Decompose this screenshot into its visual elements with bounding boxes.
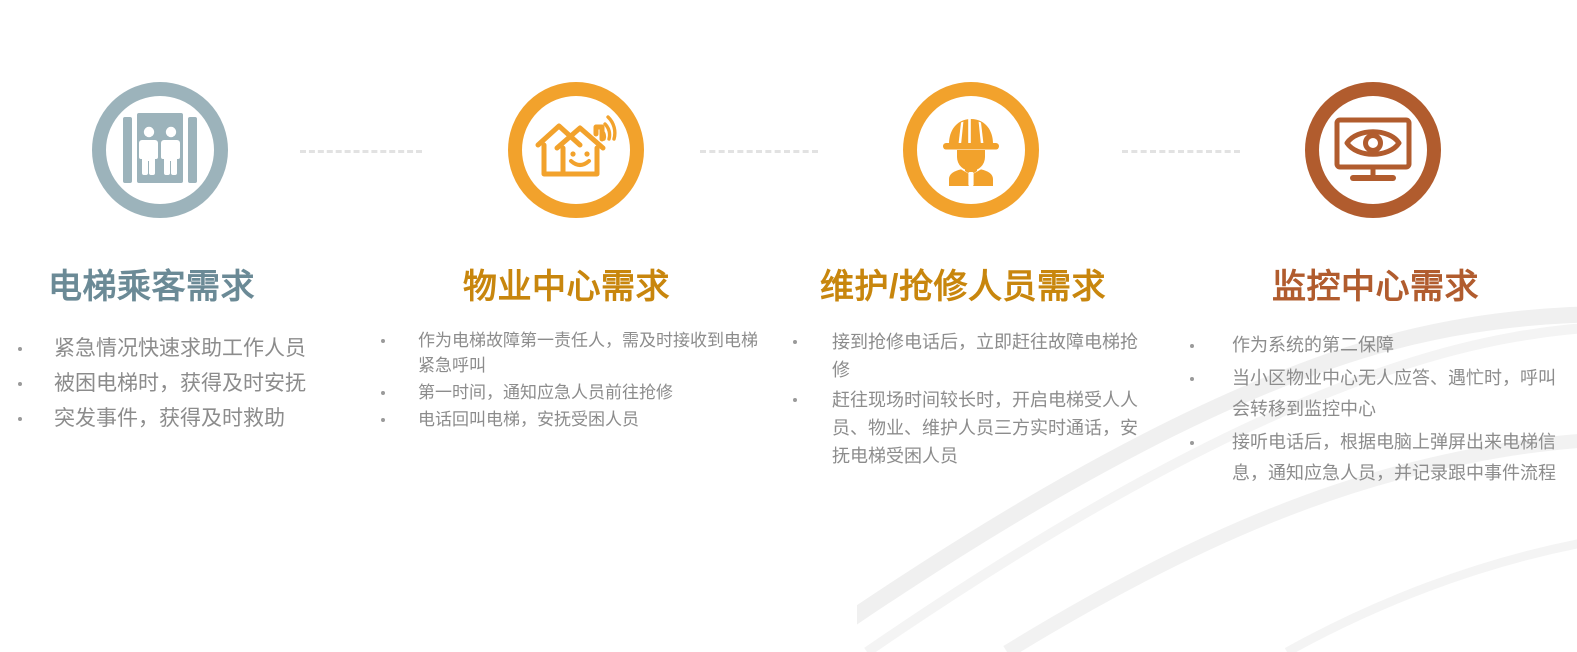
list-item-text: 接到抢修电话后，立即赶往故障电梯抢修 [832,328,1153,384]
bullet-dot [793,398,797,402]
list-item: 当小区物业中心无人应答、遇忙时，呼叫会转移到监控中心 [1190,363,1570,425]
list-item: 接听电话后，根据电脑上弹屏出来电梯信息，通知应急人员，并记录跟中事件流程 [1190,427,1570,489]
list-item-text: 电话回叫电梯，安抚受困人员 [418,407,761,432]
bullet-dot [381,391,385,395]
list-item: 接到抢修电话后，立即赶往故障电梯抢修 [793,328,1153,384]
bullet-dot [793,340,797,344]
bullet-dot [1190,441,1194,445]
bullet-dot [1190,344,1194,348]
column-title-maintenance-repair: 维护/抢修人员需求 [820,270,1106,304]
monitor-eye-icon [1333,117,1413,183]
infographic-slide: 电梯乘客需求 紧急情况快速求助工作人员 被困电梯时，获得及时安抚 突发事件，获得… [0,0,1577,592]
worker-helmet-icon [935,114,1007,186]
bullet-dot [381,339,385,343]
list-item-text: 作为系统的第二保障 [1232,330,1570,361]
icon-ring-elevator [92,82,228,218]
column-title-elevator-passenger: 电梯乘客需求 [48,270,255,304]
connector-1-2 [300,150,422,153]
list-item: 被困电梯时，获得及时安抚 [18,367,348,400]
list-item: 赶往现场时间较长时，开启电梯受人人员、物业、维护人员三方实时通话，安抚电梯受困人… [793,386,1153,470]
columns-container: 电梯乘客需求 紧急情况快速求助工作人员 被困电梯时，获得及时安抚 突发事件，获得… [0,0,1577,592]
list-item: 第一时间，通知应急人员前往抢修 [381,380,761,405]
connector-3-4 [1122,150,1240,153]
list-item: 电话回叫电梯，安抚受困人员 [381,407,761,432]
bullet-dot [18,382,22,386]
connector-2-3 [700,150,818,153]
list-item: 紧急情况快速求助工作人员 [18,332,348,365]
bullet-dot [18,347,22,351]
list-item-text: 突发事件，获得及时救助 [54,402,348,435]
bullet-dot [1190,377,1194,381]
list-item: 作为电梯故障第一责任人，需及时接收到电梯紧急呼叫 [381,328,761,378]
list-item: 突发事件，获得及时救助 [18,402,348,435]
list-item-text: 赶往现场时间较长时，开启电梯受人人员、物业、维护人员三方实时通话，安抚电梯受困人… [832,386,1153,470]
list-item: 作为系统的第二保障 [1190,330,1570,361]
elevator-icon [123,111,197,189]
bullet-dot [381,418,385,422]
list-item-text: 被困电梯时，获得及时安抚 [54,367,348,400]
bullet-list-elevator-passenger: 紧急情况快速求助工作人员 被困电梯时，获得及时安抚 突发事件，获得及时救助 [18,332,348,437]
bullet-list-monitoring-center: 作为系统的第二保障 当小区物业中心无人应答、遇忙时，呼叫会转移到监控中心 接听电… [1190,330,1570,491]
icon-ring-property-center [508,82,644,218]
bullet-list-property-center: 作为电梯故障第一责任人，需及时接收到电梯紧急呼叫 第一时间，通知应急人员前往抢修… [381,328,761,434]
list-item-text: 接听电话后，根据电脑上弹屏出来电梯信息，通知应急人员，并记录跟中事件流程 [1232,427,1570,489]
icon-ring-maintenance [903,82,1039,218]
icon-ring-monitoring-center [1305,82,1441,218]
list-item-text: 第一时间，通知应急人员前往抢修 [418,380,761,405]
column-title-monitoring-center: 监控中心需求 [1272,270,1479,304]
list-item-text: 紧急情况快速求助工作人员 [54,332,348,365]
column-title-property-center: 物业中心需求 [463,270,670,304]
bullet-dot [18,417,22,421]
list-item-text: 当小区物业中心无人应答、遇忙时，呼叫会转移到监控中心 [1232,363,1570,425]
bullet-list-maintenance-repair: 接到抢修电话后，立即赶往故障电梯抢修 赶往现场时间较长时，开启电梯受人人员、物业… [793,328,1153,472]
list-item-text: 作为电梯故障第一责任人，需及时接收到电梯紧急呼叫 [418,328,761,378]
smart-home-wifi-icon [535,114,617,186]
